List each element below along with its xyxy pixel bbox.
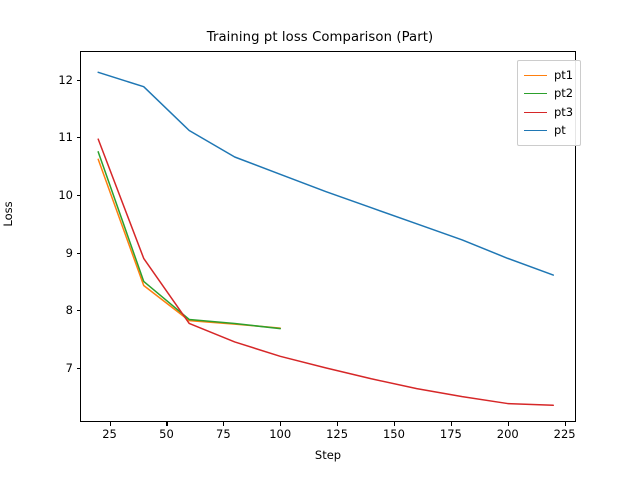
series-lines [80, 51, 576, 422]
x-tick-label: 175 [440, 427, 462, 441]
x-tick-label: 50 [159, 427, 174, 441]
legend-item-pt[interactable]: pt [524, 122, 573, 141]
y-tick-label: 10 [58, 188, 73, 202]
line-series-pt [98, 72, 553, 275]
x-tick-mark [565, 422, 566, 426]
x-tick-mark [280, 422, 281, 426]
legend-item-pt2[interactable]: pt2 [524, 85, 573, 104]
legend-item-pt3[interactable]: pt3 [524, 103, 573, 122]
x-tick-label: 150 [383, 427, 405, 441]
legend-swatch-icon [524, 75, 547, 76]
x-tick-label: 75 [216, 427, 231, 441]
legend-swatch-icon [524, 130, 547, 131]
x-tick-label: 225 [554, 427, 576, 441]
x-axis-tick-labels: 255075100125150175200225 [80, 427, 576, 443]
line-series-pt1 [98, 159, 280, 328]
y-tick-label: 8 [66, 303, 73, 317]
y-tick-label: 7 [66, 361, 73, 375]
y-axis-label: Loss [1, 134, 15, 294]
x-tick-mark [508, 422, 509, 426]
legend-swatch-icon [524, 93, 547, 94]
line-series-pt3 [98, 139, 553, 405]
legend-item-pt1[interactable]: pt1 [524, 66, 573, 85]
x-tick-mark [223, 422, 224, 426]
chart-figure: Training pt loss Comparison (Part) 78910… [0, 0, 640, 480]
x-tick-mark [110, 422, 111, 426]
x-tick-mark [166, 422, 167, 426]
legend-swatch-icon [524, 112, 547, 113]
x-tick-mark [394, 422, 395, 426]
line-series-pt2 [98, 152, 280, 329]
x-tick-label: 125 [326, 427, 348, 441]
legend-label: pt [554, 125, 566, 137]
y-tick-label: 12 [58, 73, 73, 87]
legend-label: pt2 [554, 88, 573, 100]
x-axis-label: Step [80, 448, 576, 462]
x-tick-mark [337, 422, 338, 426]
x-tick-label: 25 [102, 427, 117, 441]
chart-title: Training pt loss Comparison (Part) [0, 30, 640, 45]
chart-legend: pt1pt2pt3pt [517, 60, 581, 146]
legend-label: pt1 [554, 70, 573, 82]
y-tick-label: 9 [66, 246, 73, 260]
x-tick-label: 200 [497, 427, 519, 441]
plot-area [80, 51, 576, 422]
x-tick-mark [451, 422, 452, 426]
legend-label: pt3 [554, 107, 573, 119]
y-tick-label: 11 [58, 130, 73, 144]
x-tick-label: 100 [269, 427, 291, 441]
